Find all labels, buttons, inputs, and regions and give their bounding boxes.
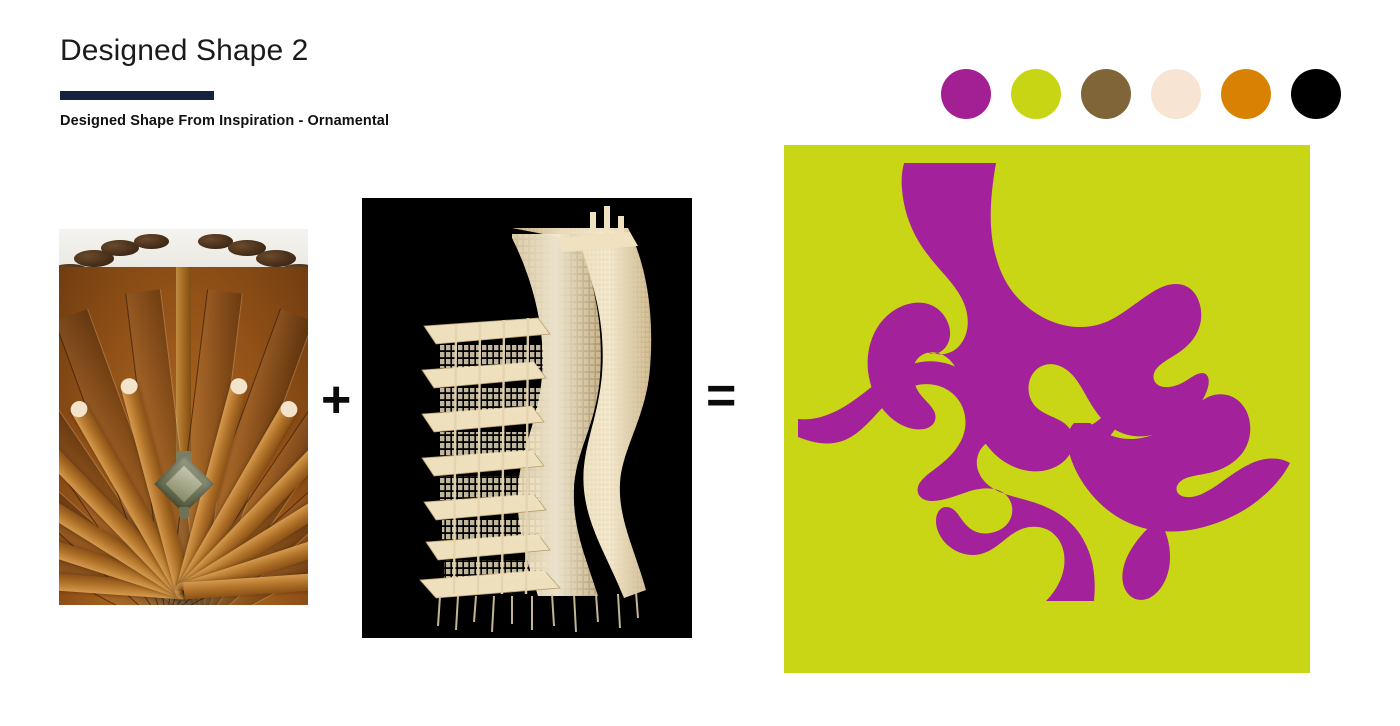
source-image-wooden-ceiling [59,229,308,605]
page-subtitle: Designed Shape From Inspiration - Orname… [60,113,389,129]
swatch-orange[interactable] [1221,69,1271,119]
plus-operator: + [321,374,351,426]
hanging-lantern [157,449,211,521]
ceiling-structure [59,267,308,605]
ceiling-illustration [59,229,308,605]
result-shape-panel [784,145,1310,673]
swatch-cream[interactable] [1151,69,1201,119]
slide-canvas: Designed Shape 2 Designed Shape From Ins… [0,0,1400,726]
source-image-architectural-model [362,198,692,638]
page-title: Designed Shape 2 [60,34,308,68]
swatch-black[interactable] [1291,69,1341,119]
ornamental-shape-illustration [784,145,1310,673]
swatch-lime-green[interactable] [1011,69,1061,119]
color-palette [941,69,1341,119]
title-accent-rule [60,91,214,100]
swatch-magenta[interactable] [941,69,991,119]
equals-operator: = [706,370,736,422]
swatch-brown[interactable] [1081,69,1131,119]
architectural-model-illustration [362,198,692,638]
